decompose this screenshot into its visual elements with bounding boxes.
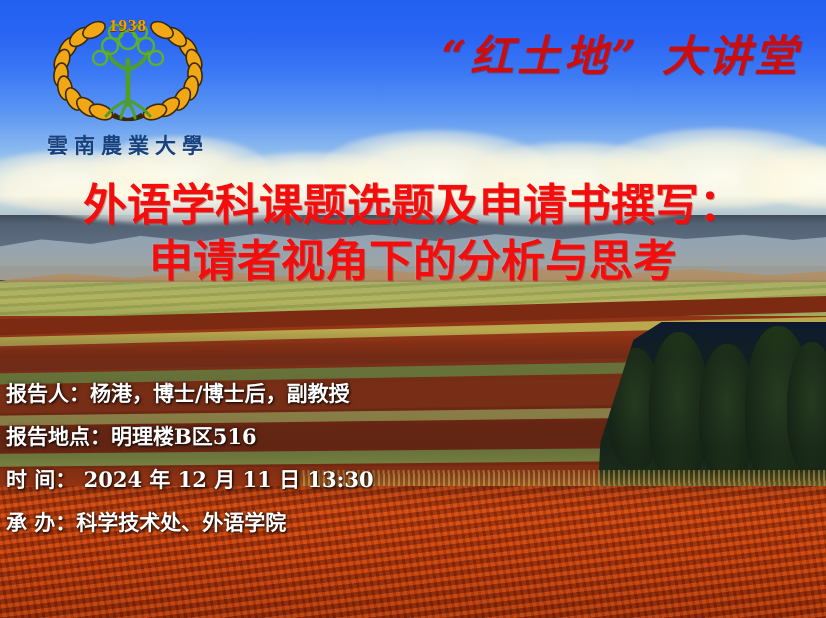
banner-quoted-text: “红土地” (442, 32, 640, 82)
title-line-1: 外语学科课题选题及申请书撰写： (0, 183, 826, 229)
time-line: 时 间： 2024 年 12 月 11 日 13:30 (6, 458, 374, 501)
page-title: 外语学科课题选题及申请书撰写： 申请者视角下的分析与思考 (0, 183, 826, 285)
lecture-poster: 1938 (0, 0, 826, 618)
banner-suffix-text: 大讲堂 (662, 32, 800, 82)
speaker-line: 报告人：杨港，博士/博士后，副教授 (6, 372, 374, 415)
lecture-series-banner: “红土地”大讲堂 (442, 22, 800, 84)
crest-emblem: 1938 (28, 8, 228, 128)
university-logo: 1938 (28, 8, 228, 166)
university-name-text: 雲南農業大學 (28, 130, 228, 160)
venue-line: 报告地点：明理楼B区516 (6, 415, 374, 458)
crest-year-label: 1938 (28, 16, 228, 36)
event-details: 报告人：杨港，博士/博士后，副教授 报告地点：明理楼B区516 时 间： 202… (6, 372, 374, 544)
host-line: 承 办：科学技术处、外语学院 (6, 501, 374, 544)
title-line-2: 申请者视角下的分析与思考 (0, 239, 826, 285)
